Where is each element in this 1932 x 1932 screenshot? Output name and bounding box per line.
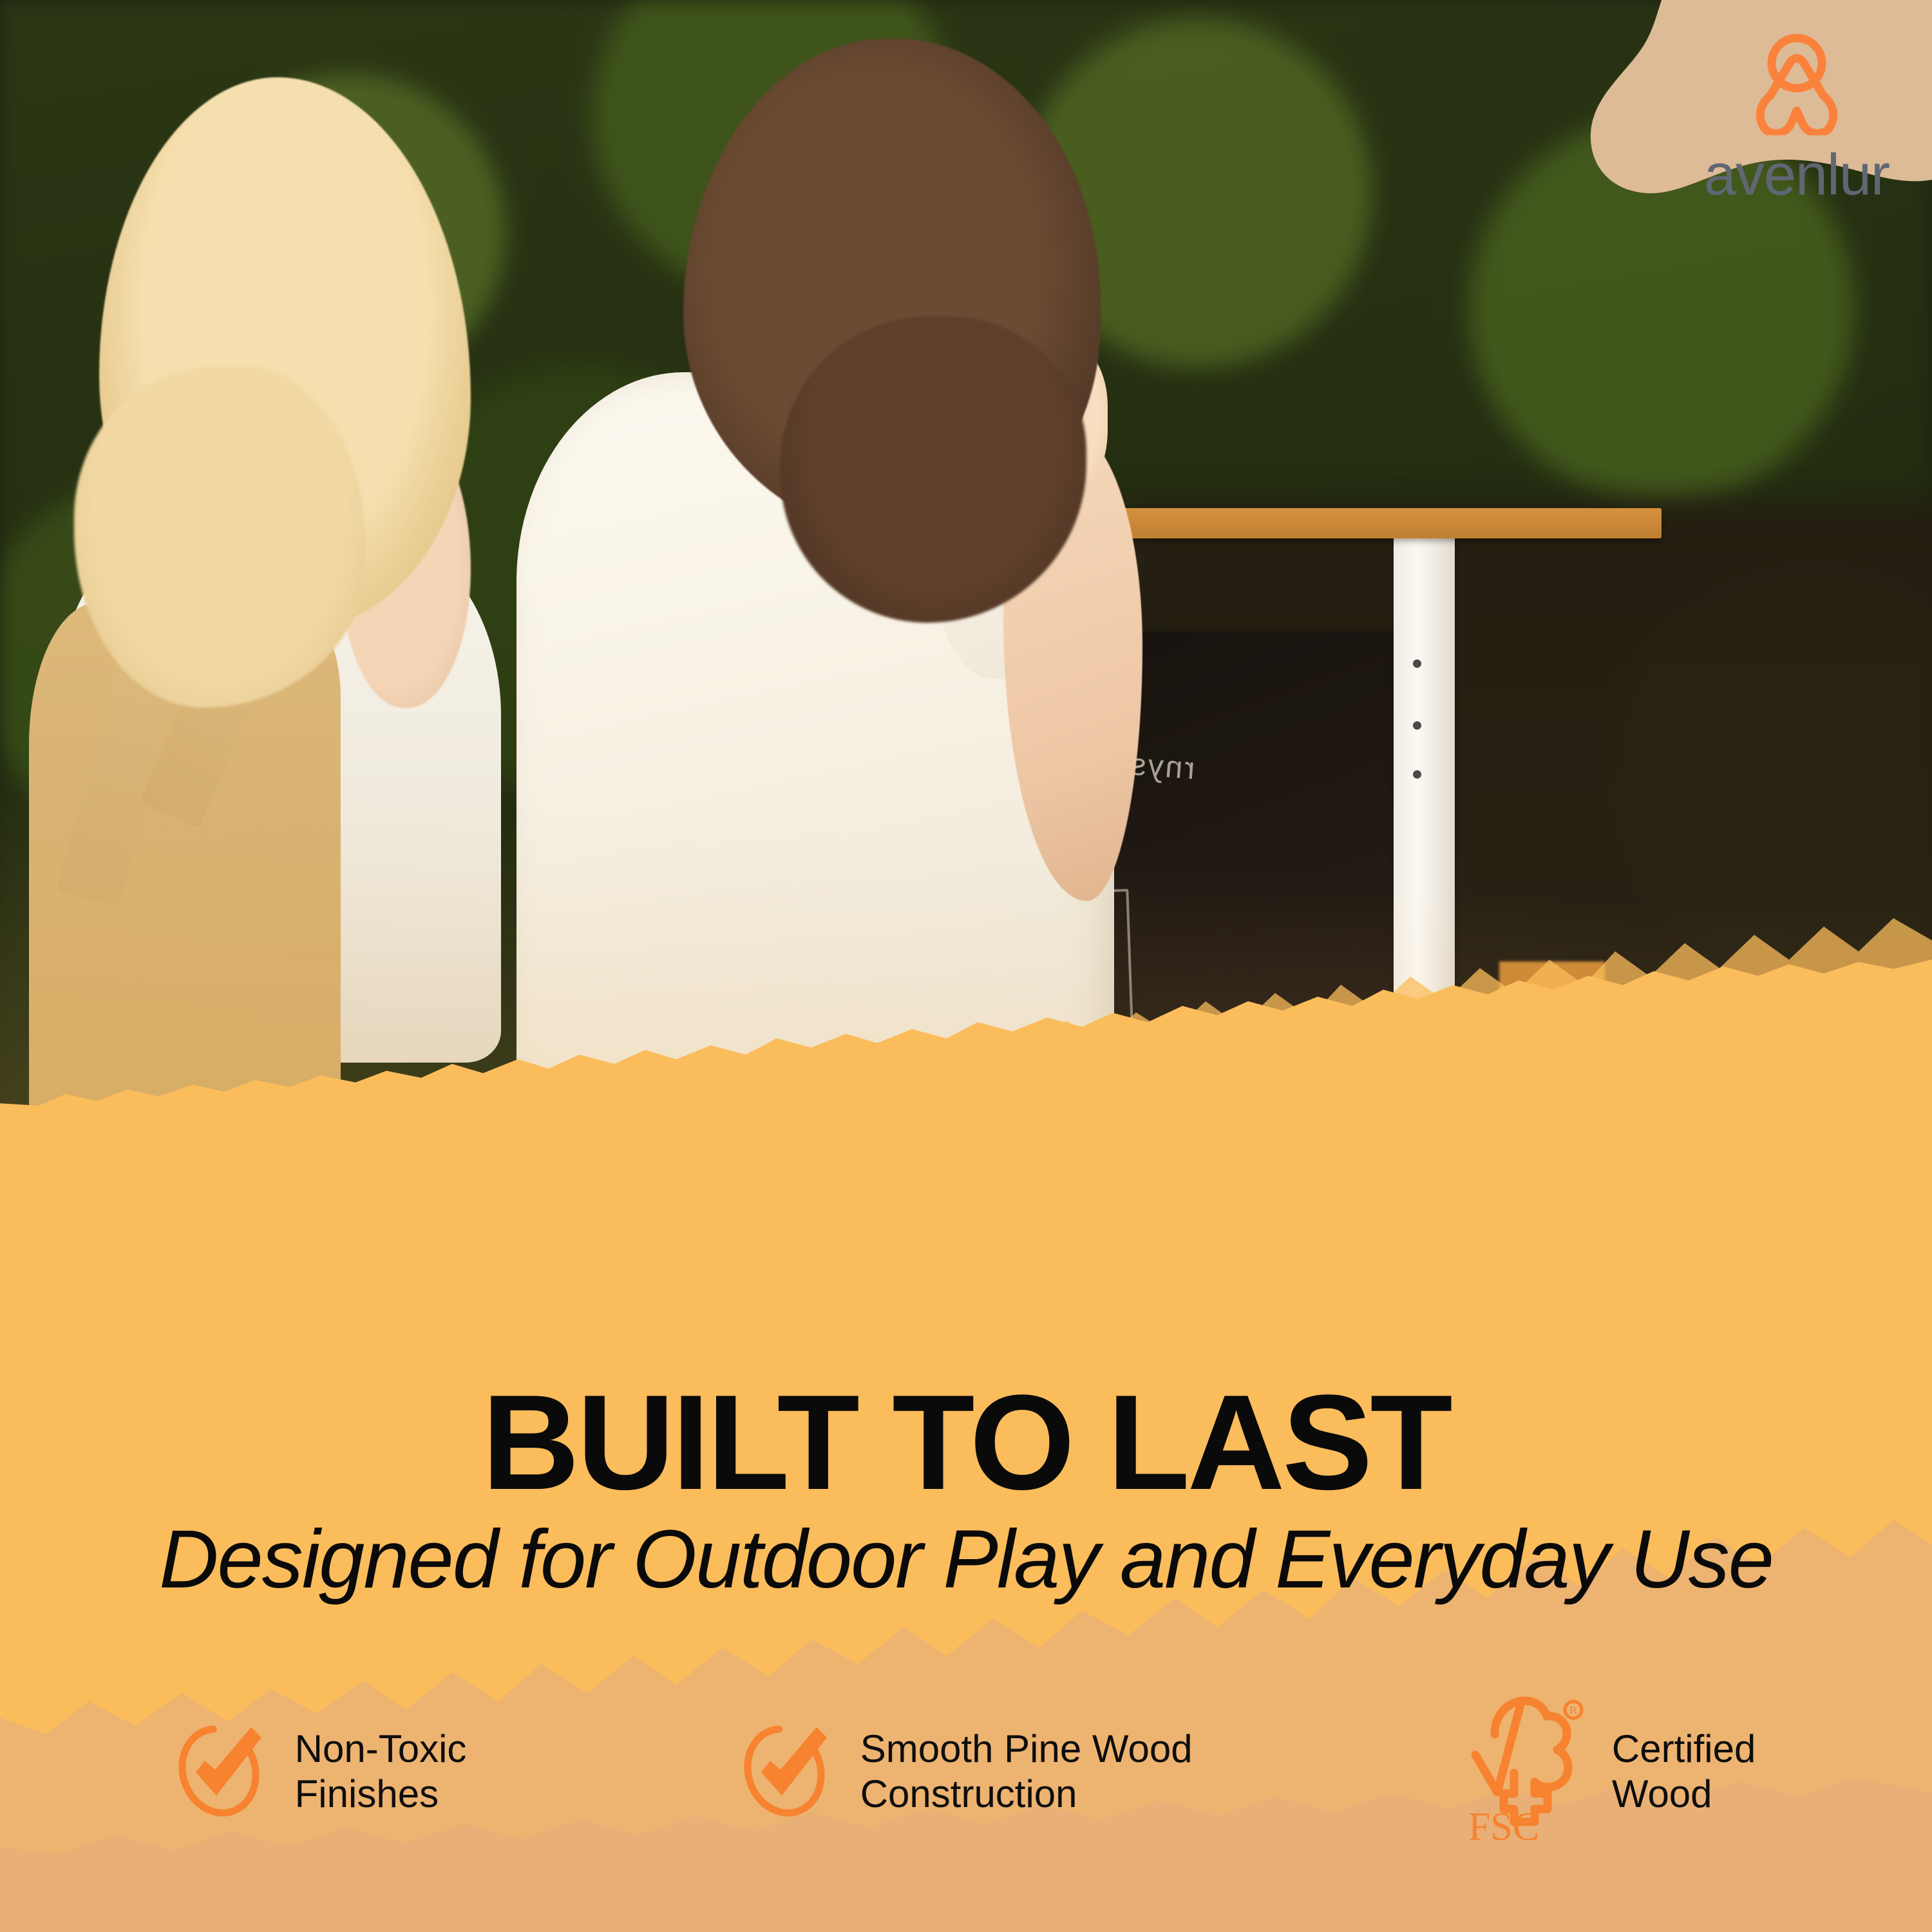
brand-logo-blob[interactable]: avenlur — [1539, 0, 1932, 232]
brand-wordmark: avenlur — [1704, 142, 1889, 209]
badge-label: Non-Toxic Finishes — [295, 1727, 467, 1816]
copy-block: BUILT TO LAST Designed for Outdoor Play … — [0, 1380, 1932, 1604]
child-hair-strands — [74, 366, 365, 708]
screw-hole — [1413, 659, 1421, 668]
badge-fsc-certified-wood: R FSC Certified Wood — [1468, 1696, 1756, 1847]
fsc-tree-icon: R FSC — [1468, 1696, 1590, 1847]
circle-check-icon — [742, 1718, 838, 1824]
badge-non-toxic-finishes: Non-Toxic Finishes — [176, 1718, 467, 1824]
circle-check-icon — [176, 1718, 273, 1824]
marketing-image: rnysn — [0, 0, 1932, 1932]
feature-badges: Non-Toxic Finishes Smooth Pine Wood Cons… — [0, 1696, 1932, 1847]
fsc-mark-text: FSC — [1468, 1805, 1539, 1844]
badge-smooth-pine-wood-construction: Smooth Pine Wood Construction — [742, 1718, 1193, 1824]
badge-label: Smooth Pine Wood Construction — [860, 1727, 1193, 1816]
registered-symbol: R — [1569, 1704, 1577, 1716]
subtitle: Designed for Outdoor Play and Everyday U… — [0, 1516, 1932, 1604]
avenlur-mark-icon — [1748, 32, 1845, 138]
badge-label: Certified Wood — [1612, 1727, 1756, 1816]
page-title: BUILT TO LAST — [0, 1380, 1932, 1504]
